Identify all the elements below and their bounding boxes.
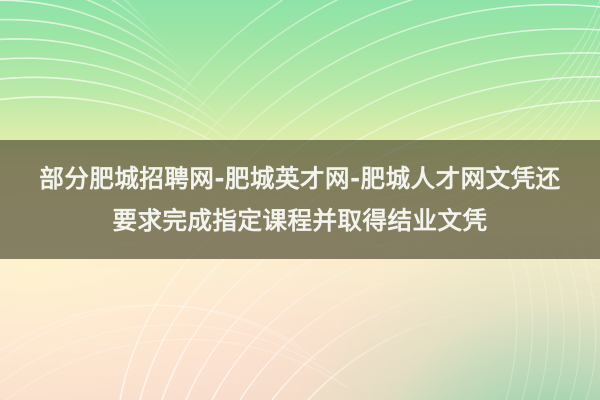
caption-band: 部分肥城招聘网-肥城英才网-肥城人才网文凭还 要求完成指定课程并取得结业文凭	[0, 140, 600, 259]
caption-line-1: 部分肥城招聘网-肥城英才网-肥城人才网文凭还	[39, 158, 560, 200]
caption-line-2: 要求完成指定课程并取得结业文凭	[113, 200, 488, 242]
banner-image: 部分肥城招聘网-肥城英才网-肥城人才网文凭还 要求完成指定课程并取得结业文凭	[0, 0, 600, 400]
